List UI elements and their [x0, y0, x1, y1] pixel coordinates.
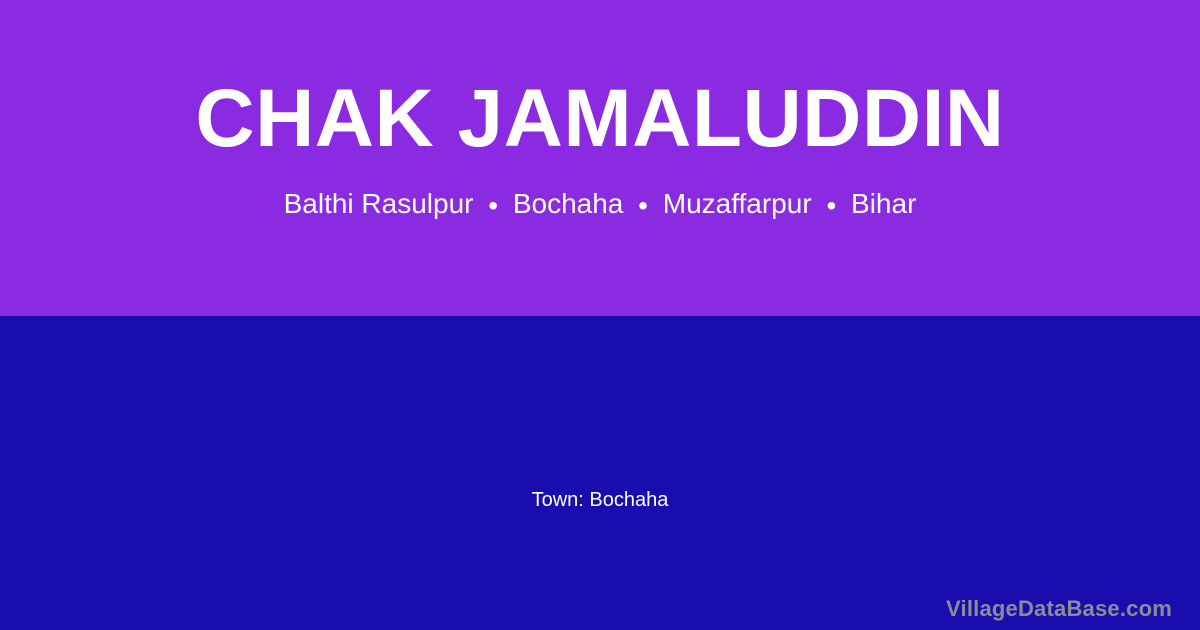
- breadcrumb-item-village: Balthi Rasulpur: [284, 188, 474, 219]
- breadcrumb-separator-icon: •: [819, 192, 843, 220]
- site-watermark: VillageDataBase.com: [946, 598, 1172, 620]
- breadcrumb-item-block: Bochaha: [513, 188, 624, 219]
- body-band: Town: Bochaha VillageDataBase.com: [0, 316, 1200, 630]
- breadcrumb-item-state: Bihar: [851, 188, 916, 219]
- page-title: CHAK JAMALUDDIN: [195, 78, 1004, 160]
- breadcrumb-separator-icon: •: [481, 192, 505, 220]
- town-detail-text: Town: Bochaha: [0, 490, 1200, 510]
- header-band: CHAK JAMALUDDIN Balthi Rasulpur • Bochah…: [0, 0, 1200, 316]
- breadcrumb: Balthi Rasulpur • Bochaha • Muzaffarpur …: [284, 190, 917, 220]
- breadcrumb-item-district: Muzaffarpur: [663, 188, 812, 219]
- breadcrumb-separator-icon: •: [631, 192, 655, 220]
- village-info-card: CHAK JAMALUDDIN Balthi Rasulpur • Bochah…: [0, 0, 1200, 630]
